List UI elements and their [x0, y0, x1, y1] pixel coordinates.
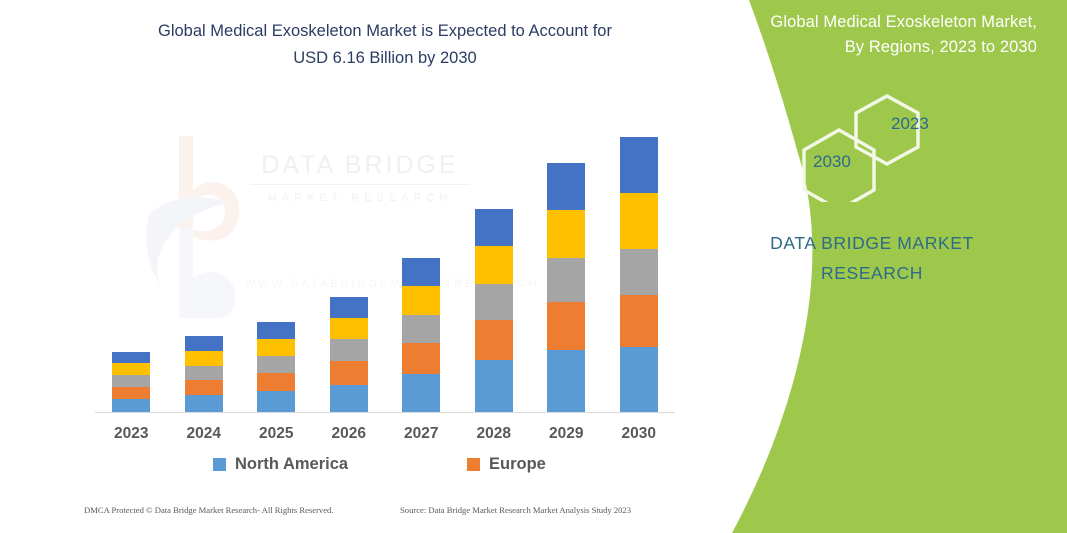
bar-segment-2024-asia-pacific: [185, 366, 223, 380]
bar-2025: [257, 322, 295, 412]
chart-title: Global Medical Exoskeleton Market is Exp…: [95, 18, 675, 72]
bar-segment-2026-north-america: [330, 385, 368, 412]
chart-title-line-1: Global Medical Exoskeleton Market is Exp…: [95, 18, 675, 45]
bar-segment-2023-asia-pacific: [112, 375, 150, 387]
bar-segment-2027-middle-east-and-africa: [402, 258, 440, 286]
bar-2028: [475, 209, 513, 412]
bar-segment-2029-north-america: [547, 350, 585, 412]
panel-title: Global Medical Exoskeleton Market, By Re…: [707, 10, 1037, 60]
panel-brand: DATA BRIDGE MARKET RESEARCH: [697, 228, 1047, 288]
bar-segment-2030-asia-pacific: [620, 249, 658, 295]
x-axis-label-2026: 2026: [317, 425, 381, 443]
panel-brand-line-2: RESEARCH: [697, 258, 1047, 288]
legend-label: North America: [235, 455, 348, 474]
chart-plot-area: DATA BRIDGE MARKET RESEARCH WWW.DATABRID…: [95, 100, 675, 413]
legend-item-north-america[interactable]: North America: [213, 455, 348, 474]
hexagon-shapes-icon: [787, 92, 977, 202]
bar-segment-2024-middle-east-and-africa: [185, 336, 223, 351]
bar-2030: [620, 137, 658, 412]
bar-segment-2028-middle-east-and-africa: [475, 209, 513, 246]
bar-segment-2026-europe: [330, 361, 368, 385]
bar-segment-2029-middle-east-and-africa: [547, 163, 585, 210]
green-panel: Global Medical Exoskeleton Market, By Re…: [677, 0, 1067, 533]
legend-swatch-icon: [213, 458, 226, 471]
bar-2024: [185, 336, 223, 412]
bar-segment-2026-asia-pacific: [330, 339, 368, 361]
panel-title-line-2: By Regions, 2023 to 2030: [707, 35, 1037, 60]
bar-2029: [547, 163, 585, 412]
bar-segment-2030-north-america: [620, 347, 658, 412]
bar-segment-2027-europe: [402, 343, 440, 374]
legend-label: Europe: [489, 455, 546, 474]
infographic-root: Global Medical Exoskeleton Market is Exp…: [0, 0, 1067, 533]
bar-segment-2030-europe: [620, 295, 658, 347]
hexagon-2023-label: 2023: [891, 114, 929, 134]
legend-swatch-icon: [467, 458, 480, 471]
bar-segment-2027-south-america: [402, 286, 440, 315]
hexagon-group: 2030 2023: [787, 92, 977, 202]
bar-2023: [112, 352, 150, 412]
bar-segment-2023-north-america: [112, 399, 150, 412]
bar-2027: [402, 258, 440, 412]
x-axis-label-2029: 2029: [534, 425, 598, 443]
footer-source: Source: Data Bridge Market Research Mark…: [400, 505, 631, 515]
bar-segment-2025-europe: [257, 373, 295, 391]
bar-segment-2027-asia-pacific: [402, 315, 440, 343]
bar-segment-2024-south-america: [185, 351, 223, 366]
hexagon-2030-label: 2030: [813, 152, 851, 172]
footer-copyright: DMCA Protected © Data Bridge Market Rese…: [84, 505, 334, 515]
bar-segment-2026-south-america: [330, 318, 368, 339]
bar-segment-2029-asia-pacific: [547, 258, 585, 302]
bar-segment-2025-north-america: [257, 391, 295, 412]
bar-segment-2030-middle-east-and-africa: [620, 137, 658, 193]
bar-segment-2028-south-america: [475, 246, 513, 284]
x-axis-label-2023: 2023: [99, 425, 163, 443]
x-axis-label-2028: 2028: [462, 425, 526, 443]
bar-segment-2023-europe: [112, 387, 150, 399]
x-axis-labels: 20232024202520262027202820292030: [95, 425, 675, 449]
bar-segment-2028-north-america: [475, 360, 513, 412]
bar-segment-2023-south-america: [112, 363, 150, 375]
bar-2026: [330, 297, 368, 412]
footer: DMCA Protected © Data Bridge Market Rese…: [0, 505, 700, 525]
legend-item-europe[interactable]: Europe: [467, 455, 546, 474]
bar-segment-2029-europe: [547, 302, 585, 350]
chart-legend: North AmericaEurope: [95, 455, 675, 481]
chart-title-line-2: USD 6.16 Billion by 2030: [95, 45, 675, 72]
x-axis-label-2030: 2030: [607, 425, 671, 443]
x-axis-label-2027: 2027: [389, 425, 453, 443]
bar-segment-2028-asia-pacific: [475, 284, 513, 320]
bar-segment-2026-middle-east-and-africa: [330, 297, 368, 318]
bar-segment-2024-north-america: [185, 395, 223, 412]
bar-segment-2025-middle-east-and-africa: [257, 322, 295, 339]
bar-segment-2023-middle-east-and-africa: [112, 352, 150, 363]
x-axis-label-2024: 2024: [172, 425, 236, 443]
bar-segment-2029-south-america: [547, 210, 585, 258]
bar-segment-2030-south-america: [620, 193, 658, 249]
panel-brand-line-1: DATA BRIDGE MARKET: [697, 228, 1047, 258]
bar-segment-2025-asia-pacific: [257, 356, 295, 373]
bar-segment-2028-europe: [475, 320, 513, 360]
bar-group: [95, 100, 675, 412]
panel-title-line-1: Global Medical Exoskeleton Market,: [707, 10, 1037, 35]
chart-baseline: [95, 412, 675, 413]
x-axis-label-2025: 2025: [244, 425, 308, 443]
bar-segment-2025-south-america: [257, 339, 295, 356]
bar-segment-2024-europe: [185, 380, 223, 395]
bar-segment-2027-north-america: [402, 374, 440, 412]
